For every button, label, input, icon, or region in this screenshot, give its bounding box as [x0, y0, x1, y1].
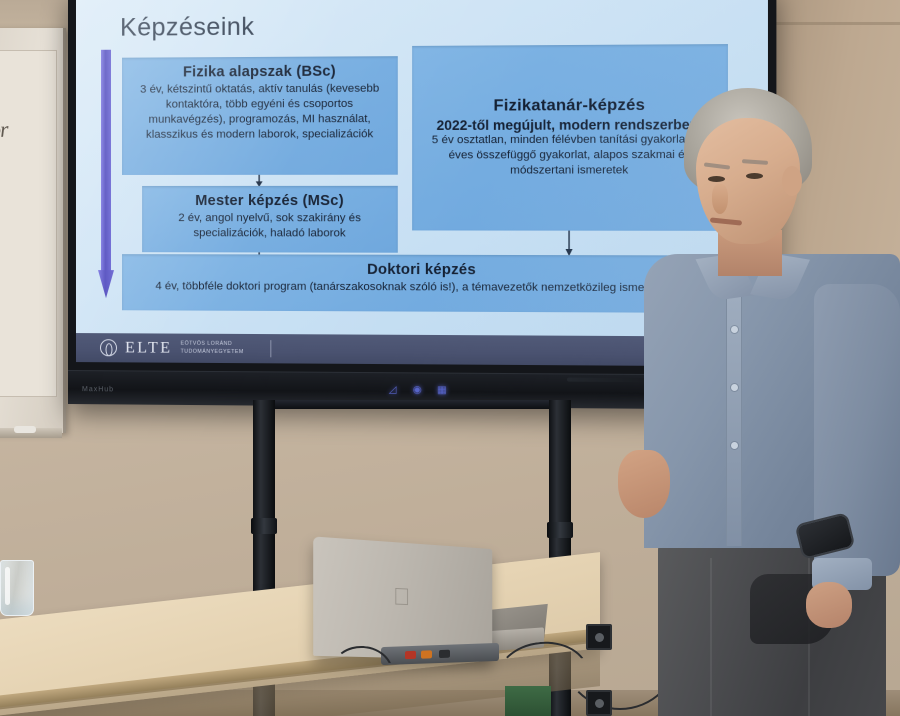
- msc-body: 2 év, angol nyelvű, sok szakirány és spe…: [152, 211, 387, 242]
- presenter-nose: [712, 184, 728, 214]
- hub-port-red[interactable]: [405, 651, 416, 659]
- power-icon[interactable]: ◉: [412, 385, 423, 396]
- footer-divider: [270, 340, 271, 357]
- pole-joint: [251, 518, 277, 534]
- whiteboard: br: [0, 28, 66, 433]
- water-glass: [0, 560, 34, 616]
- elte-logo-fullname: EÖTVÖS LORÁND TUDOMÁNYEGYETEM: [181, 340, 244, 356]
- shirt-button: [731, 442, 738, 449]
- whiteboard-surface: [0, 50, 57, 397]
- elte-logo-line2: TUDOMÁNYEGYETEM: [181, 348, 244, 356]
- bsc-body: 3 év, kétszintű oktatás, aktív tanulás (…: [132, 82, 387, 143]
- connector-arrow-teacher-to-phd: [564, 231, 574, 257]
- shirt-button: [731, 384, 738, 391]
- progression-arrow-icon: [98, 50, 114, 298]
- presenter-hand-right: [806, 582, 852, 628]
- display-brand-label: MaxHub: [82, 386, 114, 393]
- slide-box-bsc: Fizika alapszak (BSc) 3 év, kétszintű ok…: [122, 56, 398, 175]
- presenter: [600, 88, 900, 716]
- green-equipment-box: [505, 686, 551, 716]
- slide-title: Képzéseink: [120, 13, 254, 43]
- presenter-ear: [782, 166, 802, 196]
- shirt-button: [731, 326, 738, 333]
- input-icon[interactable]: ▦: [436, 385, 447, 396]
- network-icon[interactable]: ◿: [387, 384, 398, 395]
- elte-seal-icon: [100, 339, 117, 356]
- slide-box-msc: Mester képzés (MSc) 2 év, angol nyelvű, …: [142, 186, 398, 253]
- presenter-eye: [746, 173, 763, 179]
- photo-scene: br Képzéseink Fizika alap: [0, 0, 900, 716]
- msc-title: Mester képzés (MSc): [152, 193, 387, 209]
- elte-logo-line1: EÖTVÖS LORÁND: [181, 340, 244, 348]
- display-indicator-leds[interactable]: ◿ ◉ ▦: [387, 384, 448, 396]
- bsc-title: Fizika alapszak (BSc): [132, 63, 387, 80]
- display-stand-crossbar: [253, 400, 571, 409]
- whiteboard-marker: [14, 426, 36, 433]
- laptop-lid[interactable]: : [313, 536, 492, 660]
- hub-port-dark[interactable]: [439, 650, 450, 658]
- apple-logo-icon: : [391, 584, 411, 610]
- elte-logo-wordmark: ELTE: [125, 339, 172, 357]
- hub-port-orange[interactable]: [421, 650, 432, 658]
- pole-joint: [547, 522, 573, 538]
- presenter-hand-left: [618, 450, 670, 518]
- whiteboard-handwriting: br: [0, 115, 43, 144]
- presenter-eye: [708, 176, 725, 182]
- trouser-crease: [710, 558, 712, 716]
